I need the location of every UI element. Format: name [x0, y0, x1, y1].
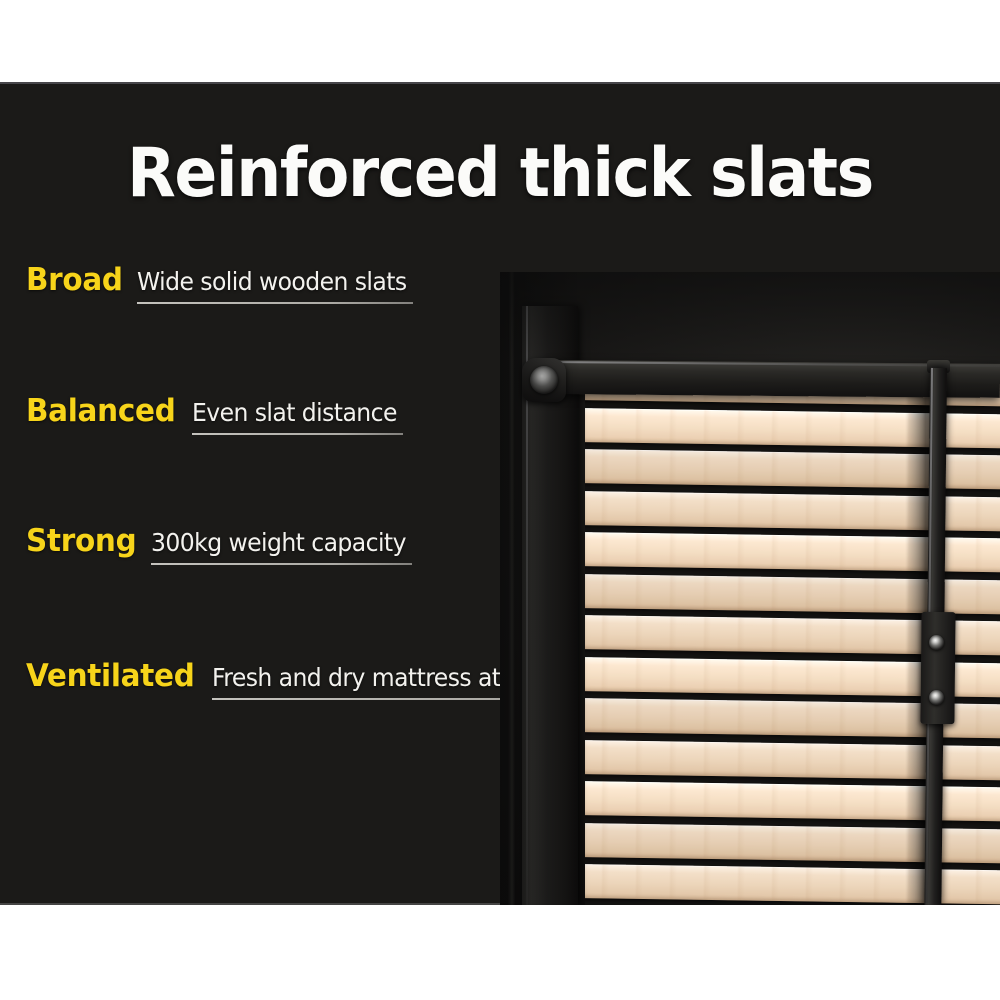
- panel-top-divider: [0, 82, 1000, 84]
- feature-keyword: Ventilated: [26, 658, 195, 694]
- feature-description: Wide solid wooden slats: [137, 267, 407, 296]
- feature-item-balanced: Balanced Even slat distance: [26, 393, 410, 429]
- page-title: Reinforced thick slats: [35, 140, 965, 208]
- feature-keyword: Broad: [26, 262, 123, 298]
- frame-corner-cap: [522, 358, 566, 402]
- feature-description: 300kg weight capacity: [151, 528, 406, 557]
- frame-outer-edge: [508, 272, 515, 905]
- image-canvas: Reinforced thick slats Broad Wide solid …: [0, 0, 1000, 1000]
- support-bolt-lower-icon: [929, 690, 944, 705]
- feature-keyword: Balanced: [26, 393, 175, 429]
- feature-description-wrap: Wide solid wooden slats: [137, 267, 424, 296]
- feature-underline: [137, 302, 413, 304]
- support-bracket-plate: [920, 612, 955, 724]
- feature-keyword: Strong: [26, 523, 136, 559]
- feature-item-broad: Broad Wide solid wooden slats: [26, 262, 424, 298]
- feature-underline: [192, 433, 403, 435]
- corner-bolt-icon: [530, 366, 558, 394]
- feature-description: Even slat distance: [192, 398, 397, 427]
- feature-description-wrap: 300kg weight capacity: [151, 528, 422, 557]
- feature-item-strong: Strong 300kg weight capacity: [26, 523, 422, 559]
- product-photo: [500, 272, 1000, 905]
- feature-description-wrap: Even slat distance: [192, 398, 410, 427]
- feature-underline: [151, 563, 412, 565]
- dark-content-panel: Reinforced thick slats Broad Wide solid …: [0, 82, 1000, 905]
- support-bolt-upper-icon: [929, 635, 944, 650]
